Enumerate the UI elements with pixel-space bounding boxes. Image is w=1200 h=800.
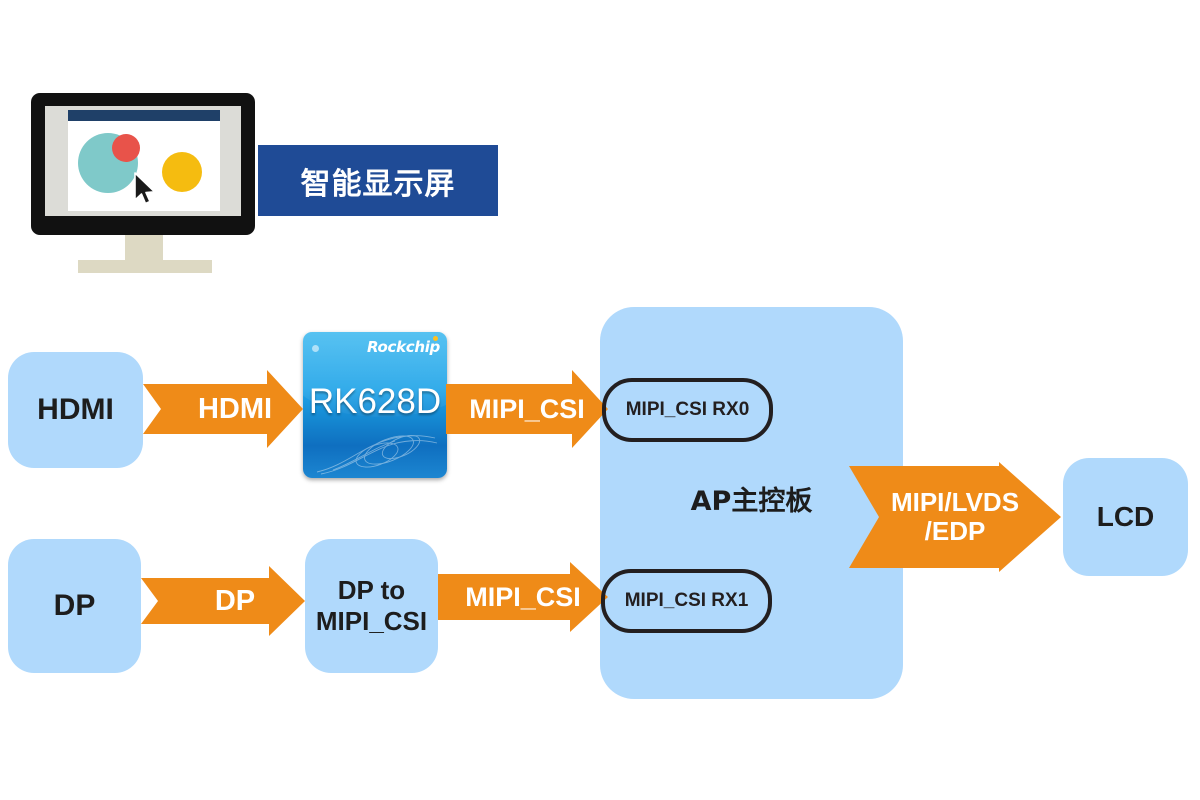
red-circle-icon bbox=[112, 134, 140, 162]
arrow-mipi-csi-rx0: MIPI_CSI bbox=[446, 370, 608, 448]
rk628d-chip[interactable]: Rockchip RK628D bbox=[303, 332, 447, 478]
node-lcd[interactable]: LCD bbox=[1063, 458, 1188, 576]
node-dp-to-mipi-csi[interactable]: DP to MIPI_CSI bbox=[305, 539, 438, 673]
node-dp-to-mipi-csi-line2: MIPI_CSI bbox=[316, 606, 427, 637]
monitor-titlebar bbox=[68, 110, 220, 121]
port-mipi-csi-rx1[interactable]: MIPI_CSI RX1 bbox=[601, 569, 772, 633]
arrow-dp-in: DP bbox=[141, 566, 305, 636]
node-dp-to-mipi-csi-line1: DP to bbox=[316, 575, 427, 606]
chip-part-number: RK628D bbox=[303, 382, 447, 422]
mouse-cursor-icon bbox=[133, 172, 159, 206]
node-dp[interactable]: DP bbox=[8, 539, 141, 673]
monitor-stand-base bbox=[78, 260, 212, 273]
arrow-display-out: MIPI/LVDS /EDP bbox=[849, 462, 1061, 572]
rockchip-logo: Rockchip bbox=[367, 338, 440, 356]
port-mipi-csi-rx0[interactable]: MIPI_CSI RX0 bbox=[602, 378, 773, 442]
diagram-canvas: 智能显示屏 AP主控板 HDMI DP DP to MIPI_CSI LCD R… bbox=[0, 0, 1200, 800]
yellow-circle-icon bbox=[162, 152, 202, 192]
chip-wave-pattern bbox=[303, 420, 447, 478]
node-hdmi[interactable]: HDMI bbox=[8, 352, 143, 468]
arrow-mipi-csi-rx1: MIPI_CSI bbox=[438, 562, 608, 632]
smart-display-banner-label: 智能显示屏 bbox=[301, 159, 456, 203]
chip-pin1-marker bbox=[312, 345, 319, 352]
smart-display-banner: 智能显示屏 bbox=[258, 145, 498, 216]
arrow-hdmi-in: HDMI bbox=[143, 370, 303, 448]
